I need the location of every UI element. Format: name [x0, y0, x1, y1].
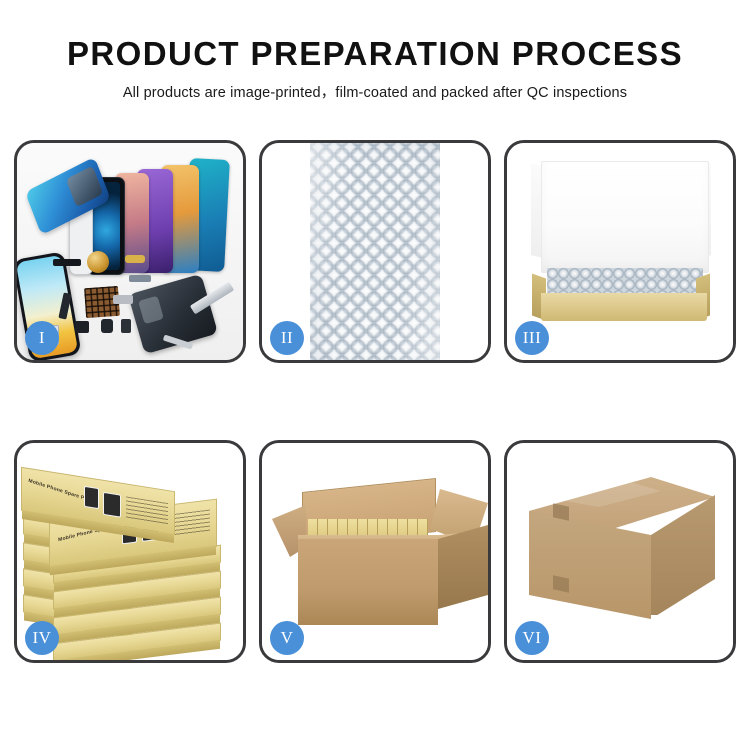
- header: PRODUCT PREPARATION PROCESS All products…: [0, 0, 750, 102]
- gold-coil-part: [87, 251, 109, 273]
- antenna-part: [129, 275, 151, 282]
- step-badge-5: V: [270, 621, 304, 655]
- step-panel-5: V: [259, 440, 491, 663]
- step-badge-1: I: [25, 321, 59, 355]
- product-preparation-page: PRODUCT PREPARATION PROCESS All products…: [0, 0, 750, 750]
- connector-part: [121, 319, 131, 333]
- page-title: PRODUCT PREPARATION PROCESS: [0, 36, 750, 72]
- box-front-panel: [541, 293, 707, 321]
- carton-front-panel: [298, 539, 438, 625]
- box-open-lid: [541, 161, 709, 273]
- metal-bracket-part: [113, 295, 133, 304]
- step-panel-6: VI: [504, 440, 736, 663]
- camera-module-part: [75, 321, 89, 333]
- speaker-part: [53, 259, 81, 266]
- step-badge-4: IV: [25, 621, 59, 655]
- step-panel-3: III: [504, 140, 736, 363]
- step-panel-2: II: [259, 140, 491, 363]
- step-panel-4: Mobile Phone Spare Parts Mobile Phone Sp…: [14, 440, 246, 663]
- box-spec-lines: [126, 496, 168, 525]
- gold-flex-part: [125, 255, 145, 263]
- step-badge-2: II: [270, 321, 304, 355]
- vibrator-part: [101, 319, 113, 333]
- inner-bubble-wrap: [547, 268, 703, 294]
- step-badge-6: VI: [515, 621, 549, 655]
- step-badge-3: III: [515, 321, 549, 355]
- bubble-wrap-sheen: [310, 143, 440, 360]
- box-phone-graphic: [84, 486, 99, 509]
- carton-side-panel: [438, 525, 488, 609]
- process-steps-grid: I II III: [14, 140, 736, 663]
- box-phone-graphic: [103, 492, 121, 518]
- page-subtitle: All products are image-printed，film-coat…: [0, 81, 750, 102]
- step-panel-1: I: [14, 140, 246, 363]
